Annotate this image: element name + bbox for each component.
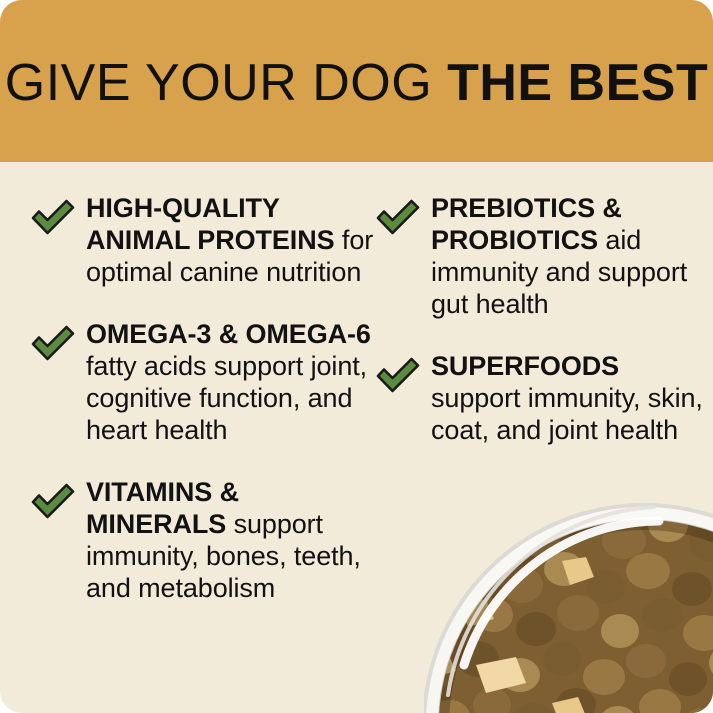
promo-card: GIVE YOUR DOG THE BEST HIGH-QUALITY ANIM… (0, 0, 713, 713)
page-title-bold: THE BEST (447, 54, 708, 112)
check-icon (30, 482, 76, 522)
check-icon (30, 324, 76, 364)
benefits-section: HIGH-QUALITY ANIMAL PROTEINS for optimal… (0, 162, 713, 713)
benefit-text: PREBIOTICS & PROBIOTICS aid immunity and… (431, 184, 705, 320)
benefit-text: HIGH-QUALITY ANIMAL PROTEINS for optimal… (86, 184, 382, 288)
benefit-item-high-quality-animal-proteins: HIGH-QUALITY ANIMAL PROTEINS for optimal… (30, 184, 382, 288)
header-banner: GIVE YOUR DOG THE BEST (0, 0, 713, 162)
benefit-lead: PREBIOTICS & PROBIOTICS (431, 193, 622, 255)
benefit-rest: support immunity, skin, coat, and joint … (431, 383, 703, 445)
benefit-lead: VITAMINS & MINERALS (86, 477, 239, 539)
benefit-rest: fatty acids support joint, cognitive fun… (86, 351, 367, 445)
benefits-column-left: HIGH-QUALITY ANIMAL PROTEINS for optimal… (30, 162, 382, 626)
benefit-text: OMEGA-3 & OMEGA-6 fatty acids support jo… (86, 310, 382, 446)
benefit-item-omega-3-omega-6: OMEGA-3 & OMEGA-6 fatty acids support jo… (30, 310, 382, 446)
page-title-regular: GIVE YOUR DOG (5, 54, 447, 112)
check-icon (30, 198, 76, 238)
benefit-item-superfoods: SUPERFOODS support immunity, skin, coat,… (375, 342, 705, 446)
benefit-lead: HIGH-QUALITY ANIMAL PROTEINS (86, 193, 335, 255)
check-icon (375, 198, 421, 238)
benefit-lead: SUPERFOODS (431, 351, 619, 381)
benefits-column-right: PREBIOTICS & PROBIOTICS aid immunity and… (375, 162, 705, 468)
page-title: GIVE YOUR DOG THE BEST (5, 57, 709, 109)
benefit-item-prebiotics-probiotics: PREBIOTICS & PROBIOTICS aid immunity and… (375, 184, 705, 320)
check-icon (375, 356, 421, 396)
benefit-text: SUPERFOODS support immunity, skin, coat,… (431, 342, 705, 446)
benefit-lead: OMEGA-3 & OMEGA-6 (86, 319, 371, 349)
benefit-item-vitamins-minerals: VITAMINS & MINERALS support immunity, bo… (30, 468, 382, 604)
benefit-text: VITAMINS & MINERALS support immunity, bo… (86, 468, 382, 604)
